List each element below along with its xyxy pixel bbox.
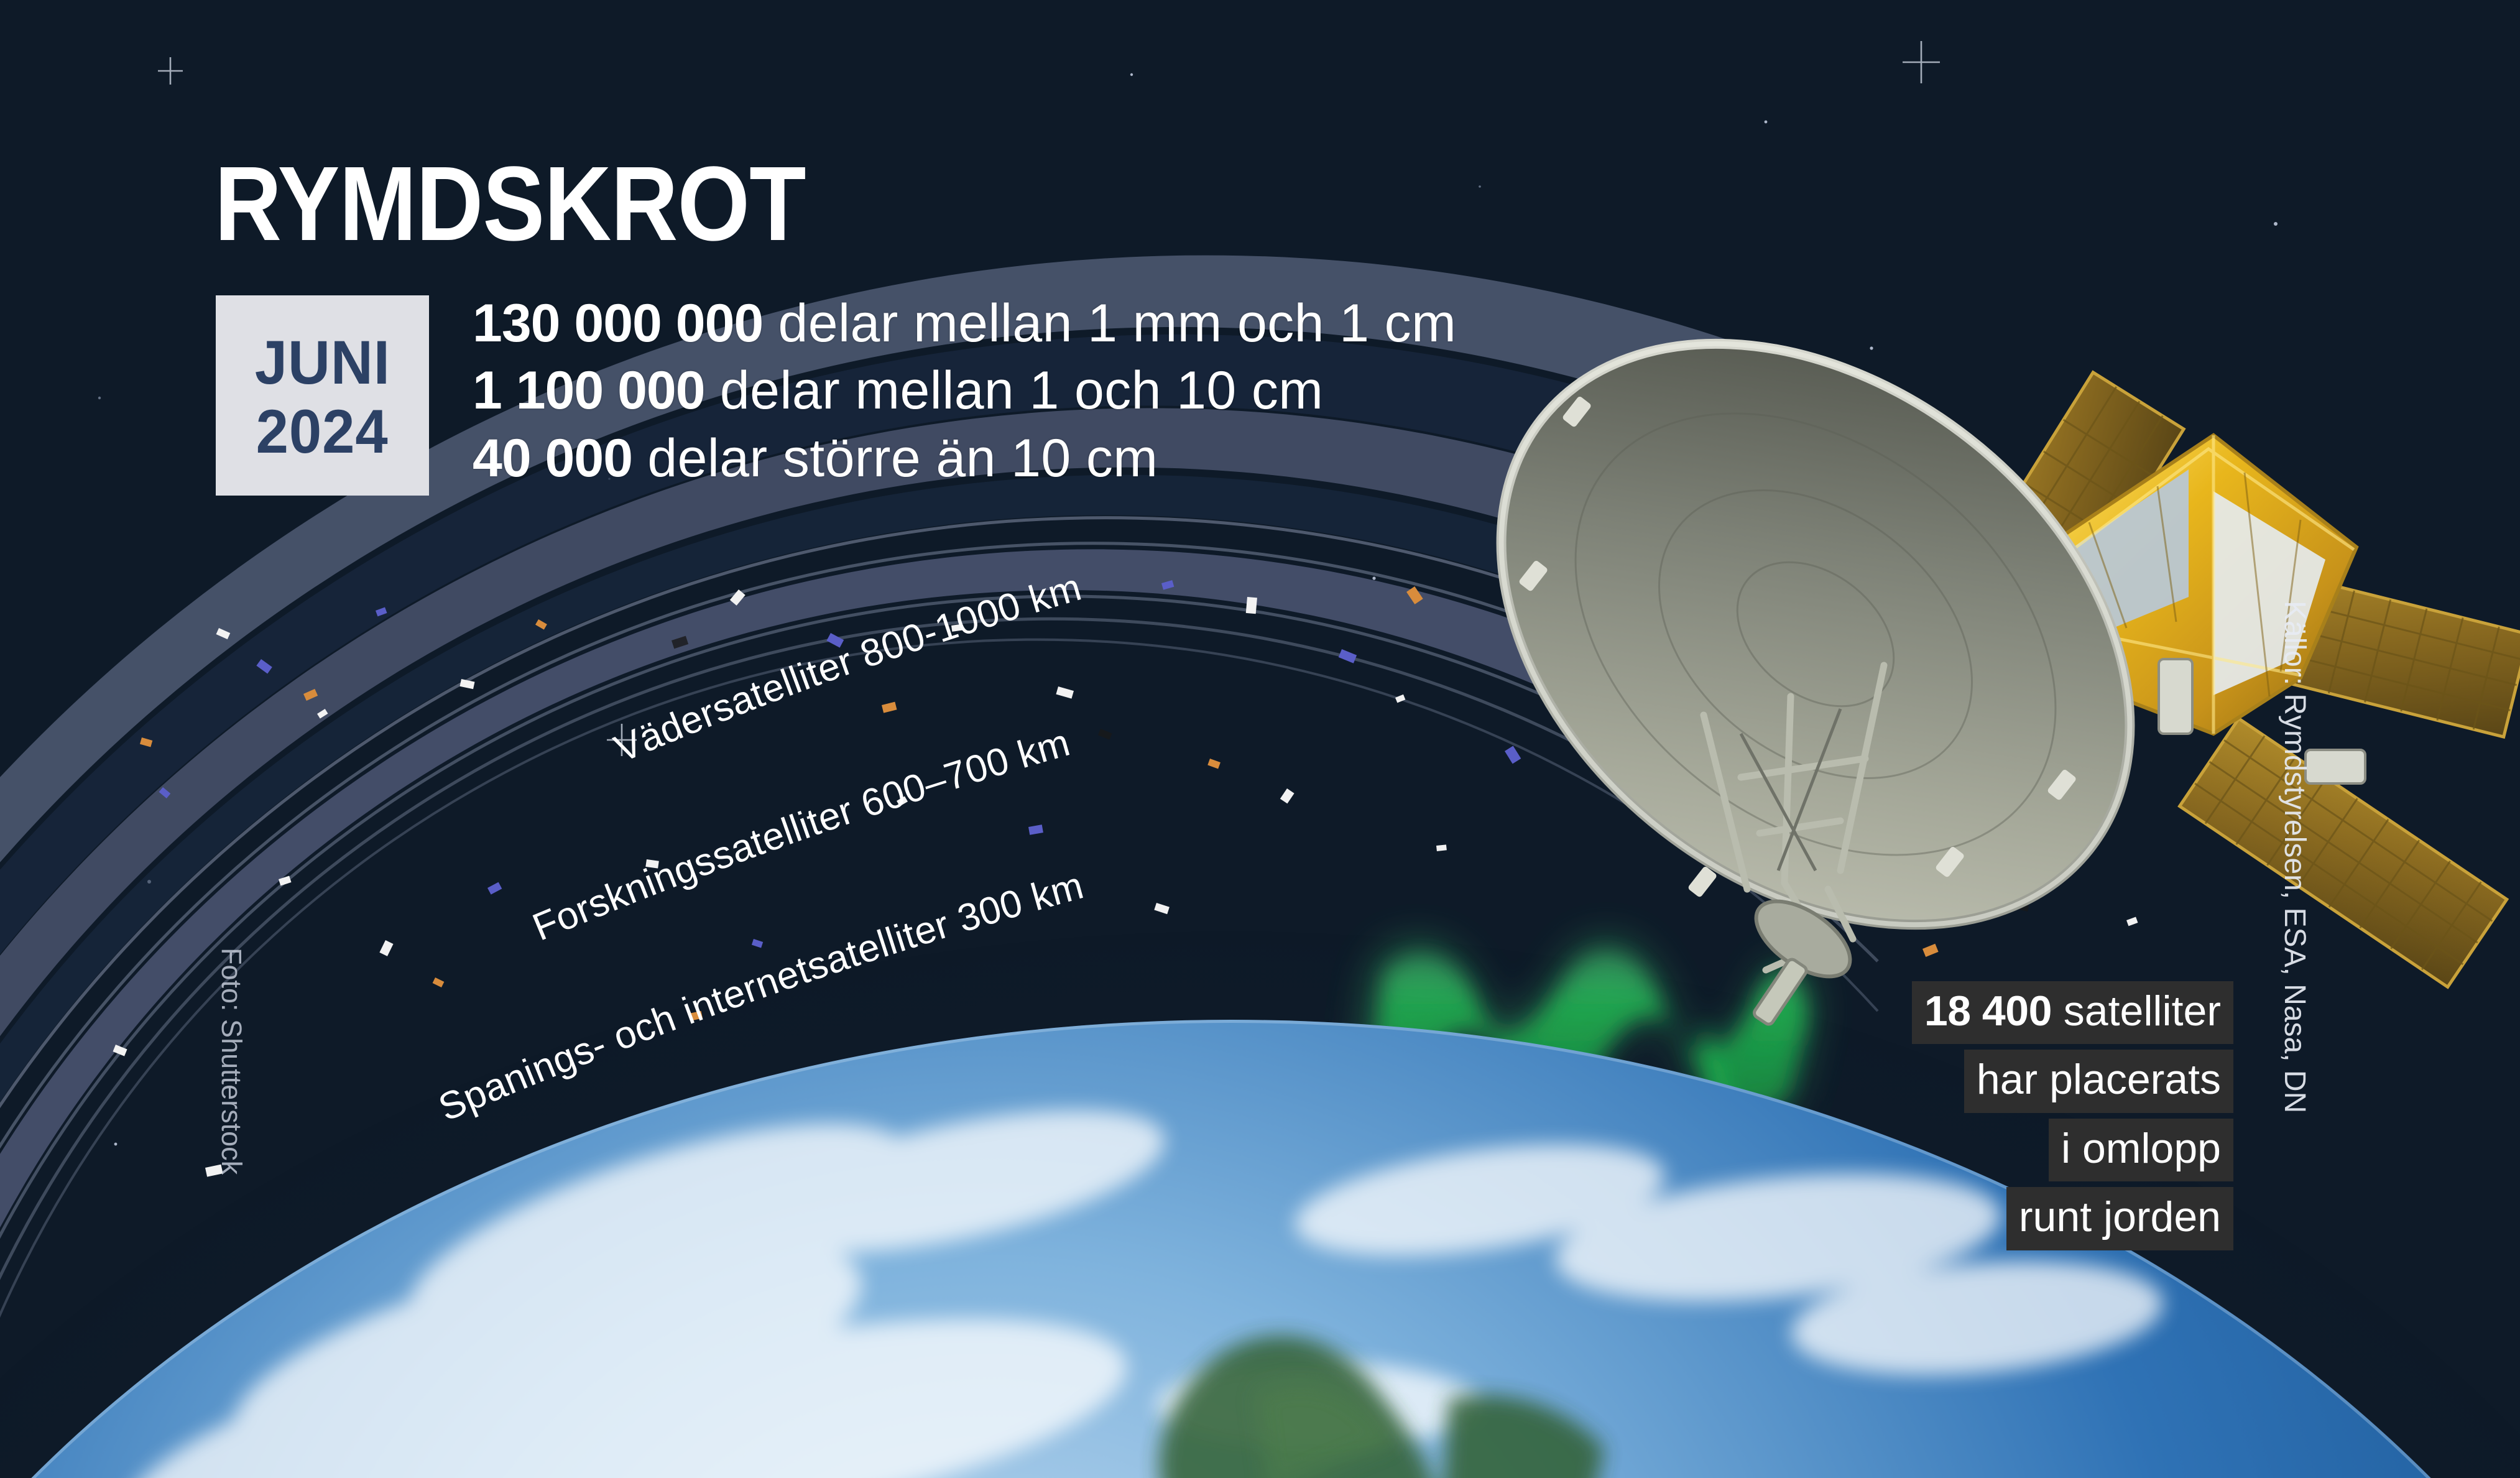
source-credit: Källor: Rymdstyrelsen, ESA, Nasa, DN (2278, 601, 2312, 1113)
callout-line: i omlopp (2049, 1119, 2233, 1181)
infographic-canvas: Vädersatelliter 800-1000 km Forskningssa… (0, 0, 2520, 1478)
debris-statistics: 130 000 000 delar mellan 1 mm och 1 cm 1… (473, 290, 1456, 492)
stat-line: 40 000 delar större än 10 cm (473, 425, 1456, 492)
stat-number: 130 000 000 (473, 293, 763, 353)
callout-text: runt jorden (2019, 1193, 2221, 1240)
callout-text: i omlopp (2061, 1125, 2221, 1172)
stat-line: 1 100 000 delar mellan 1 och 10 cm (473, 357, 1456, 424)
satellite-count-callout: 18 400 satelliter har placerats i omlopp… (1912, 981, 2233, 1250)
callout-line: har placerats (1964, 1050, 2233, 1112)
callout-text: satelliter (2052, 987, 2221, 1035)
stat-line: 130 000 000 delar mellan 1 mm och 1 cm (473, 290, 1456, 357)
stat-text: delar större än 10 cm (647, 428, 1158, 488)
stat-number: 1 100 000 (473, 361, 705, 420)
stat-text: delar mellan 1 och 10 cm (720, 361, 1323, 420)
stat-text: delar mellan 1 mm och 1 cm (778, 293, 1457, 353)
date-badge-month: JUNI (254, 328, 390, 397)
date-badge-year: 2024 (256, 397, 389, 466)
date-badge: JUNI 2024 (216, 295, 429, 496)
photo-credit: Foto: Shutterstock (215, 948, 247, 1175)
callout-line: runt jorden (2006, 1187, 2233, 1250)
callout-line: 18 400 satelliter (1912, 981, 2233, 1044)
callout-number: 18 400 (1924, 987, 2052, 1035)
page-title: RYMDSKROT (215, 151, 806, 257)
stat-number: 40 000 (473, 428, 632, 488)
callout-text: har placerats (1977, 1056, 2221, 1103)
